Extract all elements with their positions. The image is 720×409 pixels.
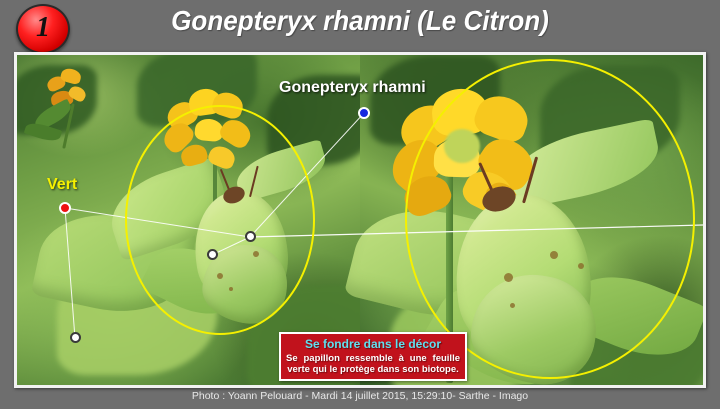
leaf-marker-dot[interactable]: [70, 332, 81, 343]
info-box: Se fondre dans le décor Se papillon ress…: [279, 332, 467, 381]
species-label: Gonepteryx rhamni: [279, 79, 426, 97]
highlight-ellipse-right: [405, 59, 695, 379]
info-box-body: Se papillon ressemble à une feuille vert…: [286, 353, 460, 375]
poster-root: 1 Gonepteryx rhamni (Le Citron): [0, 0, 720, 409]
header: 1 Gonepteryx rhamni (Le Citron): [0, 0, 720, 52]
photo-frame: Gonepteryx rhamni Vert Se fondre dans le…: [14, 52, 706, 388]
wing-marker-dot-2[interactable]: [207, 249, 218, 260]
color-label: Vert: [47, 176, 77, 194]
species-marker-dot[interactable]: [358, 107, 370, 119]
info-box-heading: Se fondre dans le décor: [286, 337, 460, 351]
highlight-ellipse-left: [125, 105, 315, 335]
wing-marker-dot-1[interactable]: [245, 231, 256, 242]
color-marker-dot[interactable]: [59, 202, 71, 214]
photo-composite: Gonepteryx rhamni Vert Se fondre dans le…: [17, 55, 703, 385]
photo-caption: Photo : Yoann Pelouard - Mardi 14 juille…: [0, 390, 720, 402]
page-title: Gonepteryx rhamni (Le Citron): [25, 5, 695, 37]
